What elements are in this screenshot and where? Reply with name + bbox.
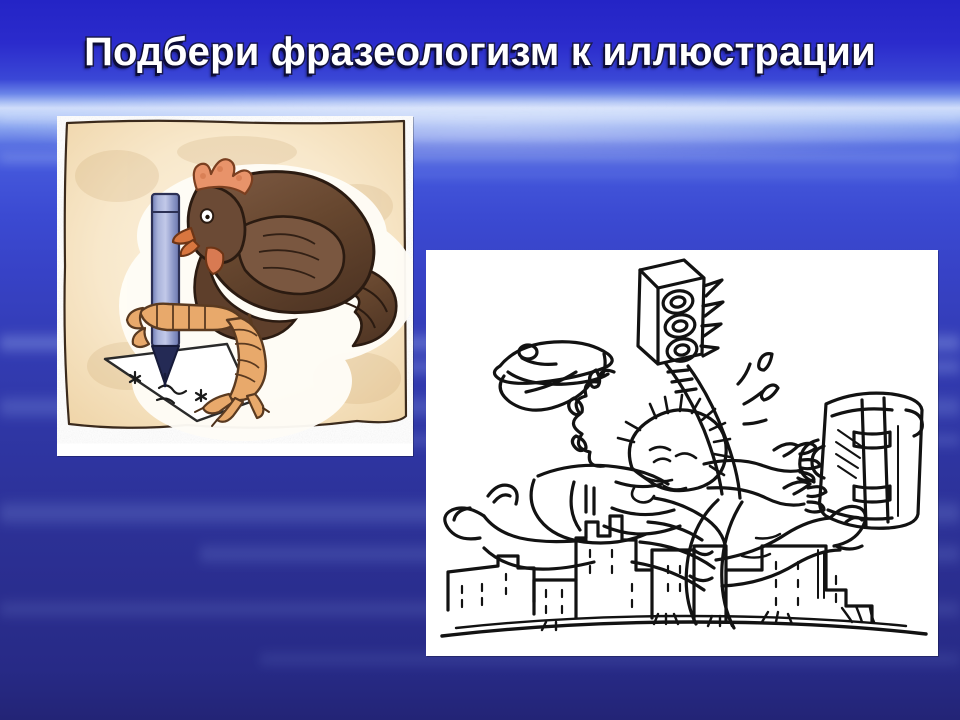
slide-title: Подбери фразеологизм к иллюстрации <box>0 30 960 75</box>
illustration-running-into-traffic-light[interactable]: Чёрно-белый рисунок: человек на бегу вре… <box>426 250 938 656</box>
illustration-chicken-scratch[interactable]: Бурая курица держит ногой синюю ручку и … <box>57 116 413 456</box>
presentation-slide: Подбери фразеологизм к иллюстрации Бурая… <box>0 0 960 720</box>
runner-traffic-light-drawing <box>426 250 938 656</box>
chicken-scratch-drawing <box>57 116 413 456</box>
